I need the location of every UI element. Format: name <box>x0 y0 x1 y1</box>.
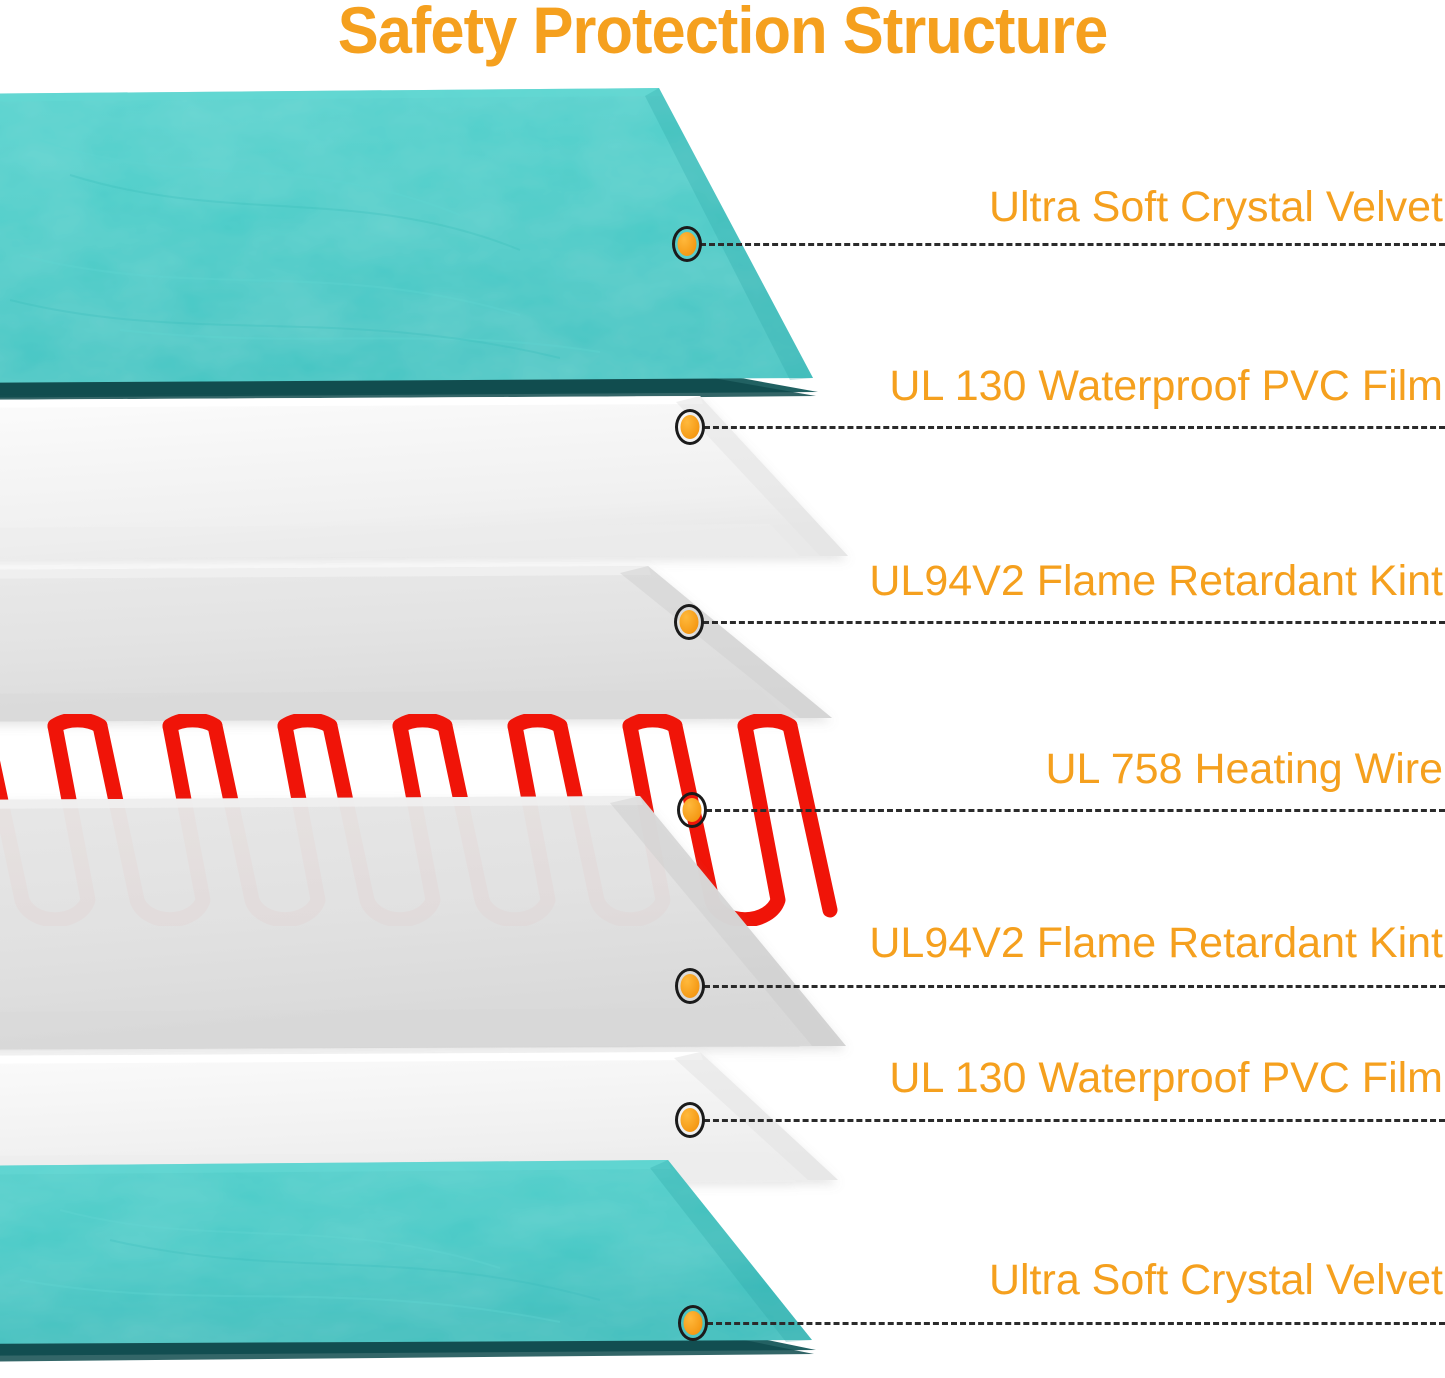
callout-label-flame-knit-bottom: UL94V2 Flame Retardant Kint <box>869 922 1443 965</box>
callout-dot-flame-knit-top[interactable] <box>674 604 704 640</box>
infographic-canvas: Safety Protection Structure <box>0 0 1445 1378</box>
callout-leader-heating-wire <box>706 809 1445 812</box>
callout-label-velvet-top: Ultra Soft Crystal Velvet <box>989 186 1443 229</box>
callout-dot-pvc-film-top[interactable] <box>675 409 705 445</box>
layer-pvc-film-top <box>0 396 848 560</box>
callout-leader-pvc-film-top <box>704 426 1445 429</box>
callout-leader-flame-knit-bottom <box>704 985 1445 988</box>
callout-label-pvc-film-top: UL 130 Waterproof PVC Film <box>889 365 1443 408</box>
layer-flame-knit-bottom <box>0 796 846 1050</box>
layer-flame-knit-top <box>0 566 832 722</box>
callout-leader-velvet-top <box>700 243 1445 246</box>
callout-dot-velvet-bottom[interactable] <box>678 1305 708 1341</box>
callout-label-pvc-film-bottom: UL 130 Waterproof PVC Film <box>889 1057 1443 1100</box>
callout-label-velvet-bottom: Ultra Soft Crystal Velvet <box>989 1259 1443 1302</box>
callout-dot-heating-wire[interactable] <box>677 792 707 828</box>
callout-leader-velvet-bottom <box>707 1322 1445 1325</box>
callout-dot-pvc-film-bottom[interactable] <box>675 1102 705 1138</box>
callout-label-heating-wire: UL 758 Heating Wire <box>1045 748 1443 791</box>
callout-leader-flame-knit-top <box>703 621 1445 624</box>
callout-leader-pvc-film-bottom <box>704 1119 1445 1122</box>
callout-dot-velvet-top[interactable] <box>672 226 702 262</box>
callout-dot-flame-knit-bottom[interactable] <box>675 968 705 1004</box>
callout-label-flame-knit-top: UL94V2 Flame Retardant Kint <box>869 560 1443 603</box>
